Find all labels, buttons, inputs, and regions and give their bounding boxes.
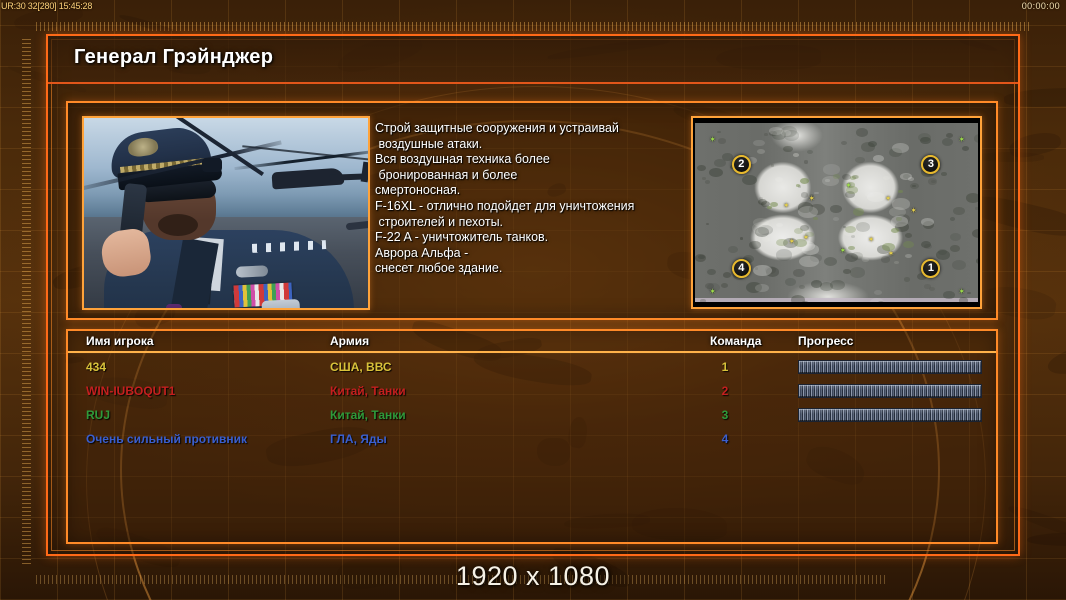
minimap-foliage-patch [898, 190, 903, 193]
main-window: Генерал Грэйнджер [46, 34, 1020, 556]
minimap-terrain-speck [966, 193, 978, 202]
minimap-light-patch [892, 143, 909, 153]
game-timer: 00:00:00 [1022, 0, 1060, 13]
minimap-resource-marker: ✶ [808, 195, 815, 202]
minimap-terrain-speck [783, 146, 792, 153]
minimap-resource-marker: ✶ [910, 207, 917, 214]
progress-fill [798, 408, 982, 422]
minimap-resource-marker: ✶ [958, 288, 965, 295]
minimap-terrain-speck [972, 229, 978, 239]
minimap-light-patch [862, 258, 869, 262]
player-army: Китай, Танки [330, 384, 406, 398]
minimap-terrain-speck [950, 233, 961, 241]
minimap-light-patch [825, 179, 829, 182]
minimap-foliage-patch [796, 184, 801, 187]
player-team: 2 [710, 384, 740, 398]
players-panel: Имя игрока Армия Команда Прогресс 434США… [66, 329, 998, 544]
minimap-terrain-speck [830, 205, 842, 213]
player-name: Очень сильный противник [86, 432, 247, 446]
minimap-terrain-speck [801, 301, 809, 302]
minimap-light-patch [776, 223, 783, 227]
minimap-terrain-speck [764, 133, 768, 136]
rotor-hub-icon [202, 158, 222, 172]
minimap-foliage-patch [833, 174, 840, 179]
player-progress-bar [798, 432, 982, 446]
briefing-line: F-22 A - уничтожитель танков. [375, 230, 685, 246]
minimap-terrain-speck [698, 255, 705, 260]
minimap-terrain-speck [904, 277, 910, 281]
minimap-start-position[interactable]: 2 [732, 155, 751, 174]
minimap-terrain-speck [723, 272, 731, 278]
minimap-terrain-speck [700, 299, 705, 302]
ruler-marks-left [22, 36, 31, 564]
minimap-terrain-speck [950, 245, 960, 252]
player-team: 3 [710, 408, 740, 422]
minimap-light-patch [873, 155, 884, 162]
minimap-resource-marker: ✶ [845, 182, 852, 189]
player-progress-bar [798, 408, 982, 422]
minimap-light-patch [775, 177, 784, 182]
briefing-line: Аврора Альфа - [375, 246, 685, 262]
minimap-light-patch [755, 284, 769, 292]
minimap-terrain-speck [942, 138, 953, 146]
minimap-terrain-speck [709, 168, 723, 177]
briefing-line: строителей и пехоты. [375, 215, 685, 231]
minimap-resource-marker: ✶ [887, 250, 894, 257]
minimap-terrain-speck [931, 180, 936, 183]
briefing-line: Строй защитные сооружения и устраивай [375, 121, 685, 137]
minimap-terrain-speck [976, 258, 978, 263]
player-team: 1 [710, 360, 740, 374]
briefing-line: воздушные атаки. [375, 137, 685, 153]
minimap-light-patch [757, 149, 766, 154]
minimap-foliage-patch [848, 246, 855, 250]
minimap-resource-marker: ✶ [885, 195, 892, 202]
minimap-terrain-speck [717, 131, 720, 133]
player-army: ГЛА, Яды [330, 432, 387, 446]
player-team: 4 [710, 432, 740, 446]
minimap-start-position[interactable]: 1 [921, 259, 940, 278]
minimap-terrain-speck [721, 283, 728, 288]
debug-topbar: UR:30 32[280] 15:45:28 00:00:00 [0, 0, 1066, 13]
minimap-terrain-speck [697, 165, 706, 171]
minimap-terrain-speck [820, 282, 833, 291]
minimap-terrain-speck [807, 150, 813, 154]
minimap-resource-marker: ✶ [868, 236, 875, 243]
minimap-resource-marker: ✶ [709, 136, 716, 143]
minimap-terrain-speck [959, 297, 969, 302]
minimap-terrain-speck [707, 269, 716, 275]
minimap-light-patch [905, 254, 912, 258]
minimap-foliage-patch [794, 228, 803, 234]
minimap-light-patch [781, 130, 790, 136]
minimap-foliage-patch [853, 208, 865, 215]
pilot-wings-badge-icon [236, 265, 269, 278]
progress-fill [798, 384, 982, 398]
helicopter-fin-icon [361, 162, 368, 183]
table-row: RUJКитай, Танки3 [68, 405, 996, 429]
minimap-terrain-speck [793, 269, 805, 277]
column-header-progress: Прогресс [798, 334, 853, 348]
column-header-team: Команда [710, 334, 761, 348]
minimap-resource-marker: ✶ [958, 136, 965, 143]
minimap-light-patch [793, 153, 799, 157]
minimap-resource-marker: ✶ [788, 238, 795, 245]
minimap-light-patch [870, 298, 884, 302]
minimap-terrain-speck [799, 285, 805, 289]
player-army: Китай, Танки [330, 408, 406, 422]
minimap-terrain-speck [776, 249, 792, 260]
column-header-name: Имя игрока [86, 334, 154, 348]
minimap-terrain-speck [952, 260, 966, 270]
minimap-terrain-speck [785, 278, 796, 286]
briefing-line: бронированная и более [375, 168, 685, 184]
player-name: WIN-IUBOQUT1 [86, 384, 175, 398]
minimap-light-patch [799, 256, 818, 267]
minimap-foliage-patch [770, 202, 778, 207]
minimap-terrain-speck [967, 292, 971, 295]
minimap-foliage-patch [896, 217, 902, 221]
briefing-line: смертоносная. [375, 183, 685, 199]
minimap-light-patch [900, 173, 912, 180]
minimap-light-patch [865, 192, 874, 197]
minimap-terrain-speck [824, 257, 838, 266]
minimap: ✶✶✶✶✶✶✶✶✶✶✶✶✶✶2341 [695, 123, 978, 302]
background-silhouette [1045, 336, 1066, 380]
player-name: RUJ [86, 408, 110, 422]
minimap-terrain-speck [924, 284, 931, 289]
minimap-resource-marker: ✶ [783, 202, 790, 209]
purple-heart-medal-icon [166, 304, 182, 308]
minimap-terrain-speck [953, 207, 965, 215]
minimap-foliage-patch [903, 241, 914, 248]
minimap-foliage-patch [891, 228, 899, 233]
minimap-terrain-speck [850, 267, 865, 277]
minimap-terrain-speck [868, 141, 877, 147]
minimap-terrain-speck [920, 137, 930, 144]
minimap-terrain-speck [905, 233, 912, 238]
briefing-description: Строй защитные сооружения и устраивай во… [375, 121, 685, 277]
player-army: США, ВВС [330, 360, 392, 374]
progress-fill [798, 360, 982, 374]
minimap-light-patch [753, 140, 764, 147]
fps-counter: UR:30 32[280] 15:45:28 [1, 0, 92, 13]
resolution-overlay: 1920 x 1080 [0, 561, 1066, 592]
minimap-terrain-speck [728, 246, 738, 253]
minimap-terrain-speck [722, 153, 733, 160]
minimap-foliage-patch [813, 217, 818, 220]
briefing-line: Вся воздушная техника более [375, 152, 685, 168]
general-granger-portrait [84, 118, 368, 308]
minimap-frame: ✶✶✶✶✶✶✶✶✶✶✶✶✶✶2341 [691, 116, 982, 309]
minimap-resource-marker: ✶ [709, 288, 716, 295]
minimap-terrain-speck [943, 291, 955, 299]
minimap-terrain-speck [855, 157, 865, 164]
general-portrait-frame [82, 116, 370, 310]
minimap-terrain-speck [962, 146, 970, 151]
loading-screen: UR:30 32[280] 15:45:28 00:00:00 Генерал … [0, 0, 1066, 600]
minimap-light-patch [833, 217, 839, 221]
belt-buckle-icon [261, 299, 300, 308]
minimap-light-patch [762, 237, 770, 242]
minimap-terrain-speck [841, 141, 847, 145]
briefing-panel: Строй защитные сооружения и устраивай во… [66, 101, 998, 320]
minimap-light-patch [753, 265, 772, 276]
minimap-terrain-speck [856, 128, 869, 137]
player-name: 434 [86, 360, 106, 374]
players-table-header: Имя игрока Армия Команда Прогресс [68, 331, 996, 353]
minimap-terrain-speck [771, 164, 775, 167]
minimap-resource-marker: ✶ [839, 247, 846, 254]
ruler-marks-top [36, 22, 1030, 31]
minimap-terrain-speck [856, 222, 870, 232]
minimap-bottom-strip [695, 298, 978, 302]
minimap-start-position[interactable]: 4 [732, 259, 751, 278]
minimap-foliage-patch [800, 178, 809, 184]
minimap-terrain-speck [975, 207, 978, 209]
page-title: Генерал Грэйнджер [74, 46, 273, 69]
table-row: WIN-IUBOQUT1Китай, Танки2 [68, 381, 996, 405]
minimap-terrain-speck [950, 217, 955, 221]
minimap-terrain-speck [845, 253, 858, 262]
minimap-light-patch [883, 176, 890, 180]
title-band: Генерал Грэйнджер [48, 36, 1018, 84]
column-header-army: Армия [330, 334, 369, 348]
minimap-terrain-speck [705, 180, 711, 184]
minimap-terrain-speck [740, 237, 743, 239]
minimap-terrain-speck [941, 172, 946, 176]
minimap-terrain-speck [742, 175, 757, 186]
minimap-light-patch [894, 261, 899, 264]
face-shadow [158, 214, 198, 236]
minimap-terrain-speck [936, 250, 950, 260]
player-progress-bar [798, 384, 982, 398]
minimap-terrain-speck [718, 138, 726, 144]
table-row: Очень сильный противникГЛА, Яды4 [68, 429, 996, 453]
briefing-line: F-16XL - отлично подойдет для уничтожени… [375, 199, 685, 215]
minimap-light-patch [874, 290, 882, 295]
minimap-terrain-speck [749, 241, 760, 249]
minimap-resource-marker: ✶ [803, 234, 810, 241]
minimap-foliage-patch [850, 176, 856, 180]
minimap-start-position[interactable]: 3 [921, 155, 940, 174]
table-row: 434США, ВВС1 [68, 357, 996, 381]
minimap-light-patch [921, 218, 934, 226]
minimap-terrain-speck [706, 223, 710, 226]
minimap-terrain-speck [974, 134, 978, 142]
minimap-terrain-speck [804, 160, 809, 163]
player-progress-bar [798, 360, 982, 374]
background-silhouette [1027, 532, 1066, 546]
minimap-light-patch [850, 198, 855, 201]
briefing-line: снесет любое здание. [375, 261, 685, 277]
